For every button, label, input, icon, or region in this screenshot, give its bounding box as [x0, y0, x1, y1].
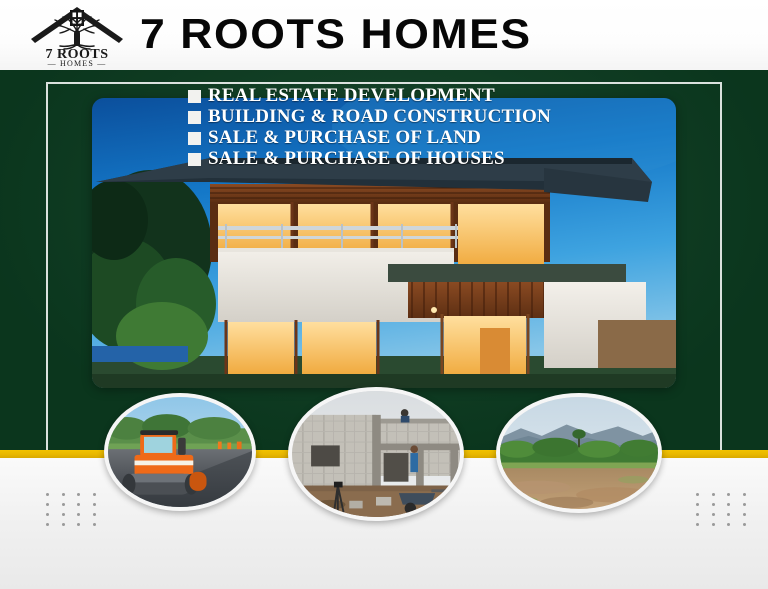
service-item-label: SALE & PURCHASE OF LAND [208, 127, 481, 149]
service-item: REAL ESTATE DEVELOPMENT [188, 86, 551, 106]
dot-grid-right [690, 489, 752, 529]
contact-row: 0209271975 LOC: SHELL SIGNBOARD-SPINTEX [0, 534, 768, 578]
page-title: 7 ROOTS HOMES [140, 6, 532, 62]
services-list: REAL ESTATE DEVELOPMENT BUILDING & ROAD … [188, 86, 551, 170]
square-bullet-icon [188, 111, 201, 124]
square-bullet-icon [188, 90, 201, 103]
service-item-label: SALE & PURCHASE OF HOUSES [208, 148, 505, 170]
service-item-label: BUILDING & ROAD CONSTRUCTION [208, 106, 551, 128]
square-bullet-icon [188, 153, 201, 166]
service-item: BUILDING & ROAD CONSTRUCTION [188, 107, 551, 127]
service-item: SALE & PURCHASE OF HOUSES [188, 149, 551, 169]
header-bar: 7 ROOTS — HOMES — 7 ROOTS HOMES [0, 0, 768, 72]
service-item-label: REAL ESTATE DEVELOPMENT [208, 85, 495, 107]
building-construction-photo [288, 387, 464, 521]
flyer-poster: 7 ROOTS — HOMES — 7 ROOTS HOMES REAL EST… [0, 0, 768, 589]
seven-roots-homes-logo: 7 ROOTS — HOMES — [18, 2, 136, 68]
dot-grid-left [40, 489, 102, 529]
land-plot-photo [496, 393, 662, 513]
svg-text:— HOMES —: — HOMES — [47, 59, 107, 68]
square-bullet-icon [188, 132, 201, 145]
road-construction-photo [104, 393, 256, 511]
service-item: SALE & PURCHASE OF LAND [188, 128, 551, 148]
